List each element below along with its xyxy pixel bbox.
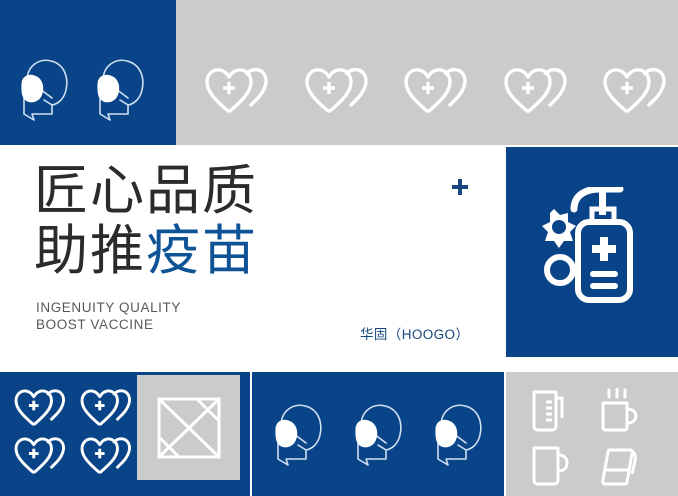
headline-line-2: 助推疫苗 (34, 221, 258, 281)
double-heart-plus-icon (302, 65, 374, 117)
double-heart-plus-icon (501, 65, 573, 117)
brand-name: 华固（HOOGO） (360, 323, 469, 343)
masked-face-icon (268, 397, 330, 469)
image-placeholder-panel (137, 375, 240, 480)
measuring-beaker-icon (528, 388, 586, 438)
double-heart-icon-row (202, 65, 672, 117)
bottom-middle-masked-faces-panel (252, 372, 504, 496)
vessel-icon-grid (528, 388, 654, 492)
masked-face-icon (14, 52, 76, 124)
masked-face-icon (348, 397, 410, 469)
top-right-hearts-panel (176, 0, 678, 145)
subtitle-line-1: INGENUITY QUALITY (36, 299, 181, 316)
sanitizer-illustration (524, 187, 660, 317)
image-placeholder-icon (157, 397, 221, 459)
headline-line-2-prefix: 助推 (34, 221, 146, 281)
masked-face-icon-row (14, 52, 152, 124)
headline-line-2-accent: 疫苗 (146, 221, 258, 281)
double-heart-plus-icon (600, 65, 672, 117)
bottom-right-vessels-panel (506, 372, 678, 496)
double-heart-plus-icon (12, 434, 70, 478)
steaming-cup-icon (596, 388, 654, 438)
top-left-masked-faces-panel (0, 0, 176, 145)
poster-canvas: 匠心品质 助推疫苗 INGENUITY QUALITY BOOST VACCIN… (0, 0, 678, 496)
sanitizer-panel (506, 147, 678, 357)
double-heart-icon-grid (12, 386, 136, 478)
double-heart-plus-icon (78, 434, 136, 478)
double-heart-plus-icon (202, 65, 274, 117)
kettle-icon (596, 442, 654, 492)
mug-icon (528, 442, 586, 492)
masked-face-icon (90, 52, 152, 124)
double-heart-plus-icon (401, 65, 473, 117)
headline-block: 匠心品质 助推疫苗 (34, 161, 258, 281)
headline-panel: 匠心品质 助推疫苗 INGENUITY QUALITY BOOST VACCIN… (0, 147, 504, 357)
double-heart-plus-icon (78, 386, 136, 430)
masked-face-icon (428, 397, 490, 469)
plus-icon (450, 177, 470, 197)
subtitle-line-2: BOOST VACCINE (36, 316, 181, 333)
headline-line-1: 匠心品质 (34, 161, 258, 221)
subtitle-block: INGENUITY QUALITY BOOST VACCINE (36, 299, 181, 333)
masked-face-icon-row (268, 397, 490, 469)
double-heart-plus-icon (12, 386, 70, 430)
